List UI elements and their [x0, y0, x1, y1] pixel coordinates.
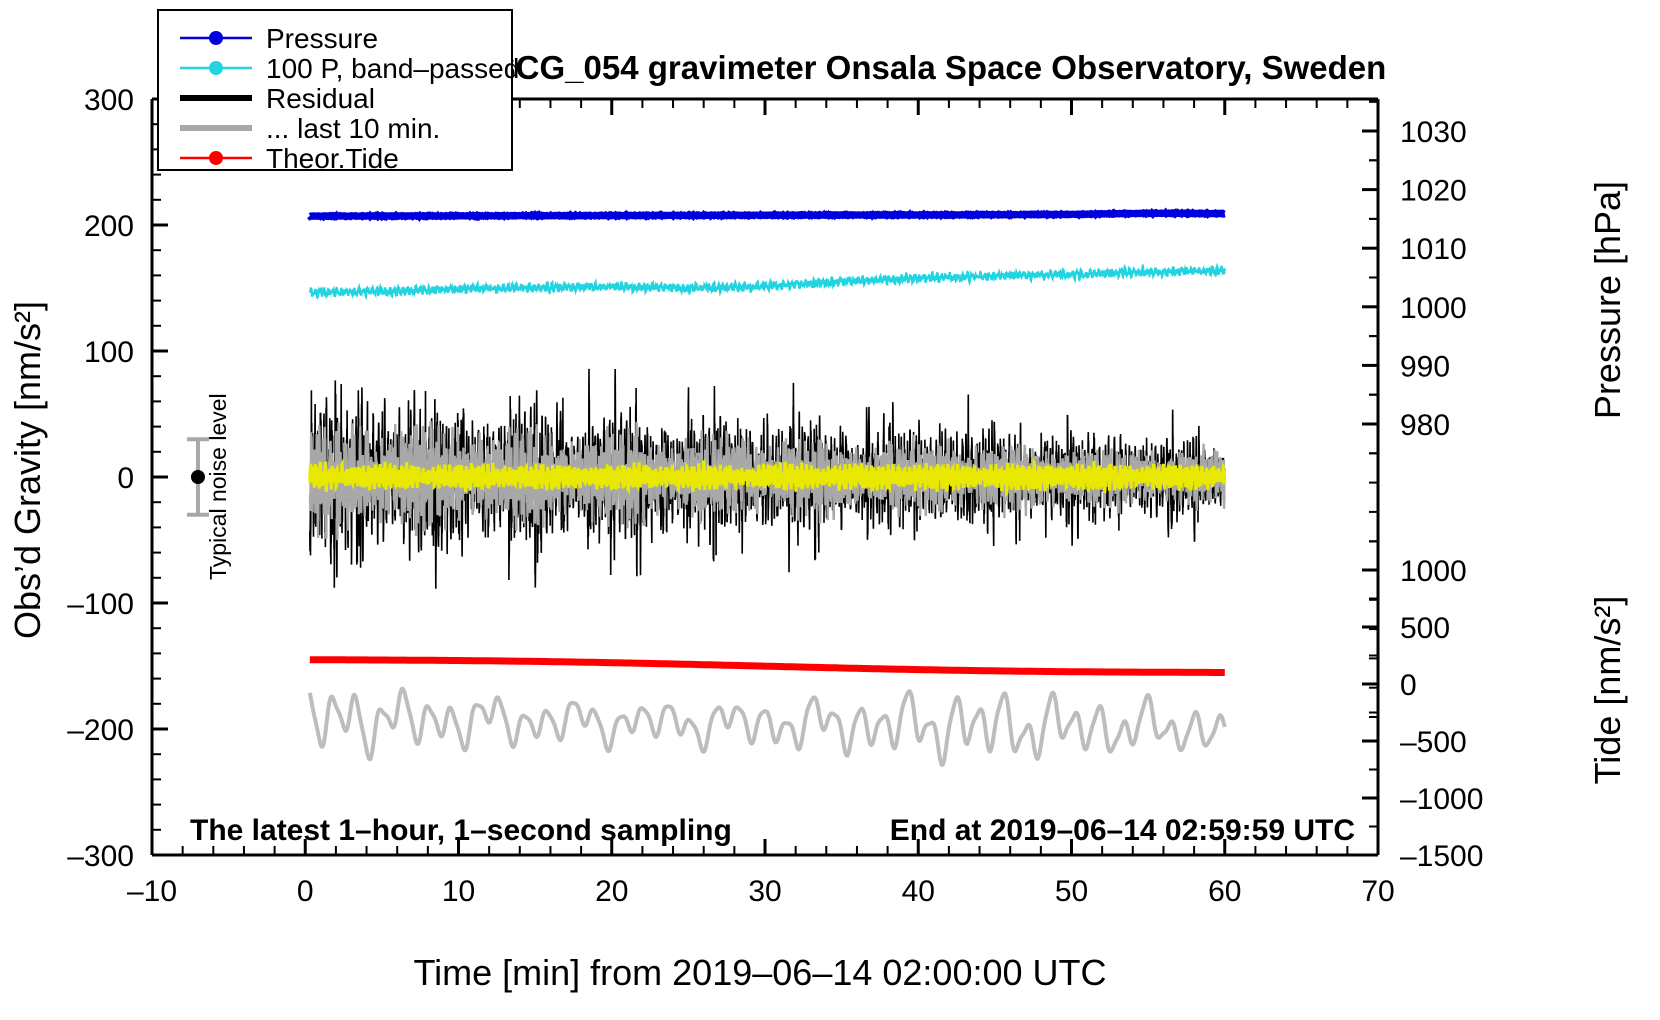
x-tick-label: 60	[1208, 875, 1241, 908]
tide-tick-label: 500	[1400, 612, 1450, 645]
x-tick-label: 30	[748, 875, 781, 908]
chart-title: SCG_054 gravimeter Onsala Space Observat…	[494, 49, 1387, 86]
x-tick-label: 10	[442, 875, 475, 908]
legend-item-label: Theor.Tide	[266, 143, 399, 174]
noise-center-dot	[191, 470, 205, 484]
pressure-tick-label: 980	[1400, 409, 1450, 442]
annotation-bottom-right: End at 2019–06–14 02:59:59 UTC	[890, 814, 1355, 847]
legend-marker-dot	[209, 151, 223, 165]
legend-item-label: 100 P, band–passed	[266, 53, 519, 84]
tide-tick-label: –1000	[1400, 783, 1483, 816]
y-axis-right-tide-title: Tide [nm/s²]	[1587, 596, 1628, 785]
y-axis-right-pressure-title: Pressure [hPa]	[1587, 181, 1628, 419]
legend-item-label: Residual	[266, 83, 375, 114]
legend-marker-dot	[209, 61, 223, 75]
y-tick-label: 100	[84, 336, 134, 369]
y-tick-label: –200	[67, 714, 134, 747]
tide-tick-label: –500	[1400, 726, 1467, 759]
x-tick-label: 50	[1055, 875, 1088, 908]
pressure-tick-label: 1020	[1400, 175, 1467, 208]
y-tick-label: –300	[67, 840, 134, 873]
tide-tick-label: –1500	[1400, 840, 1483, 873]
legend-item-label: ... last 10 min.	[266, 113, 440, 144]
tide-tick-label: 1000	[1400, 555, 1467, 588]
chart-page: –10010203040506070–300–200–1000100200300…	[0, 0, 1660, 1020]
y-tick-label: 0	[117, 462, 134, 495]
pressure-tick-label: 1000	[1400, 292, 1467, 325]
legend-item-label: Pressure	[266, 23, 378, 54]
y-tick-label: 300	[84, 84, 134, 117]
legend[interactable]: Pressure100 P, band–passedResidual... la…	[158, 10, 519, 174]
legend-marker-dot	[209, 31, 223, 45]
pressure-tick-label: 1010	[1400, 233, 1467, 266]
pressure-tick-label: 1030	[1400, 116, 1467, 149]
pressure-tick-label: 990	[1400, 350, 1450, 383]
x-tick-label: 70	[1361, 875, 1394, 908]
x-tick-label: 40	[902, 875, 935, 908]
x-axis-title: Time [min] from 2019–06–14 02:00:00 UTC	[413, 952, 1106, 993]
trace-pressure	[310, 213, 1225, 217]
x-tick-label: 20	[595, 875, 628, 908]
x-tick-label: 0	[297, 875, 314, 908]
gravimeter-timeseries-chart: –10010203040506070–300–200–1000100200300…	[0, 0, 1660, 1020]
typical-noise-level-label: Typical noise level	[205, 393, 231, 580]
x-tick-label: –10	[127, 875, 177, 908]
tide-tick-label: 0	[1400, 669, 1417, 702]
y-axis-left-title: Obs’d Gravity [nm/s²]	[7, 301, 48, 639]
y-tick-label: 200	[84, 210, 134, 243]
y-tick-label: –100	[67, 588, 134, 621]
annotation-bottom-left: The latest 1–hour, 1–second sampling	[190, 814, 732, 847]
